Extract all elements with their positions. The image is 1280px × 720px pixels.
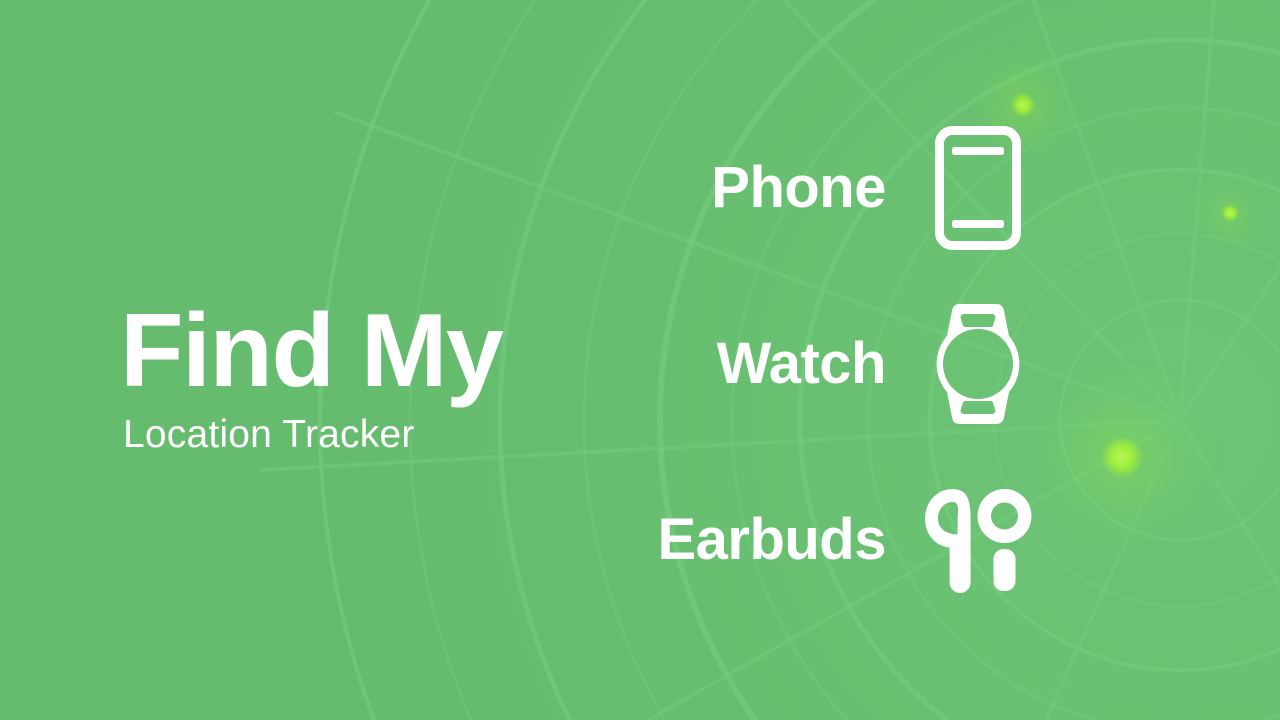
brand-block: Find My Location Tracker (120, 298, 600, 457)
device-label: Phone (711, 159, 886, 217)
find-my-promo-banner: Find My Location Tracker Phone Watch (0, 0, 1280, 720)
device-row-watch[interactable]: Watch (560, 302, 1040, 426)
earbuds-icon (916, 478, 1040, 602)
device-label: Earbuds (657, 511, 886, 569)
radar-blip (1010, 92, 1036, 118)
app-title: Find My (120, 298, 600, 404)
app-subtitle: Location Tracker (123, 414, 600, 457)
device-label: Watch (717, 335, 886, 393)
device-list: Phone Watch Earbuds (560, 126, 1040, 602)
device-row-earbuds[interactable]: Earbuds (560, 478, 1040, 602)
radar-blip (1101, 436, 1143, 478)
device-row-phone[interactable]: Phone (560, 126, 1040, 250)
radar-blip (1221, 204, 1239, 222)
watch-icon (916, 302, 1040, 426)
phone-icon (916, 126, 1040, 250)
